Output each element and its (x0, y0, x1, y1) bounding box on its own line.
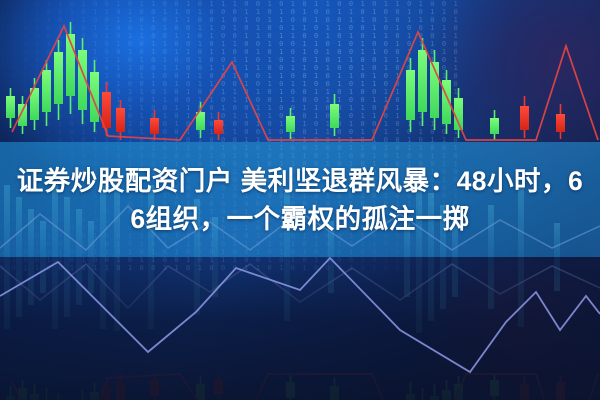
headline-line-1: 证券炒股配资门户 美利坚退群风暴：48小时，6 (17, 165, 584, 197)
headline-line-2: 6组织，一个霸权的孤注一掷 (130, 203, 469, 235)
headline-block: 证券炒股配资门户 美利坚退群风暴：48小时，6 6组织，一个霸权的孤注一掷 (0, 142, 600, 257)
banner-image: 0 1 0 0 1 1 0 1 0 0 1 0 1 1 0 0 1 0 1 1 … (0, 0, 600, 400)
